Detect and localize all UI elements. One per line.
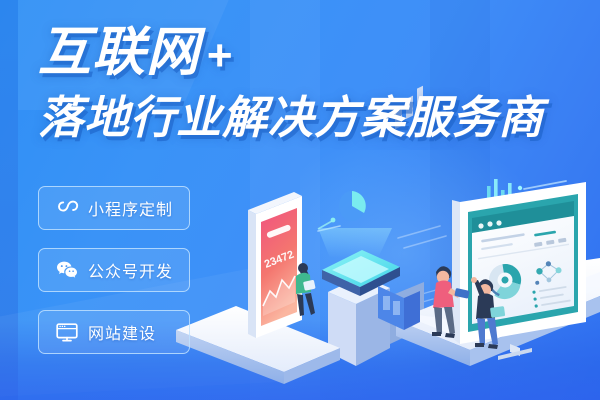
- feature-button-official-account[interactable]: 公众号开发: [38, 248, 190, 292]
- monitor-icon: [55, 320, 79, 344]
- feature-button-website[interactable]: 网站建设: [38, 310, 190, 354]
- feature-label: 小程序定制: [88, 196, 173, 220]
- mini-program-icon: [55, 196, 79, 220]
- headline-line-1: 互联网+: [38, 26, 544, 79]
- desktop-dashboard-illustration: [452, 182, 586, 360]
- headline-plus-symbol: +: [200, 31, 233, 80]
- feature-button-mini-program[interactable]: 小程序定制: [38, 186, 190, 230]
- wechat-icon: [55, 258, 79, 282]
- headline-main-text: 互联网: [38, 23, 200, 82]
- feature-label: 公众号开发: [88, 258, 173, 282]
- feature-button-list: 小程序定制 公众号开发 网站建设: [38, 186, 190, 372]
- headline-block: 互联网+ 落地行业解决方案服务商: [38, 26, 544, 140]
- promo-banner: 23472: [0, 0, 600, 400]
- smartphone-chart-illustration: 23472: [248, 192, 302, 338]
- headline-line-2: 落地行业解决方案服务商: [38, 95, 544, 140]
- pie-chart-decor: [318, 191, 366, 229]
- feature-label: 网站建设: [88, 320, 156, 344]
